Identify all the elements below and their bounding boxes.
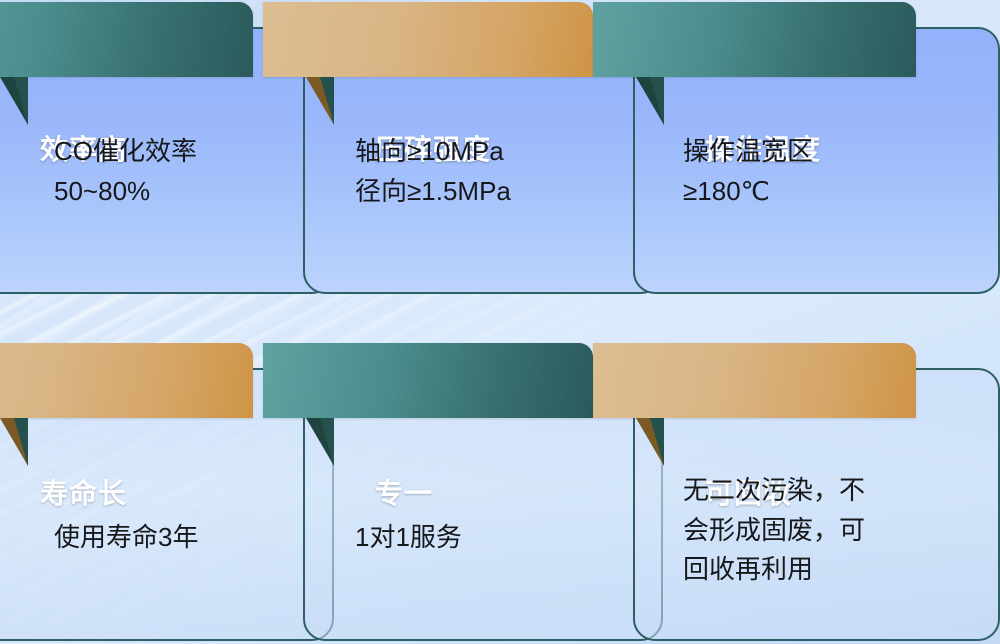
card-banner (263, 343, 593, 418)
banner-fold-icon (306, 418, 334, 466)
card-body-text: 轴向≥10MPa 径向≥1.5MPa (355, 132, 663, 211)
card-banner (593, 2, 916, 77)
card-body-text: 使用寿命3年 (54, 518, 334, 558)
card-title: 寿命长 (40, 472, 127, 512)
feature-card-recyclable[interactable]: 可回收 无二次污染，不 会形成固废，可 回收再利用 (633, 343, 1000, 641)
card-banner (263, 2, 593, 77)
banner-fold-icon (0, 418, 28, 466)
banner-fold-icon (0, 77, 28, 125)
banner-fold-icon (636, 418, 664, 466)
card-body-text: 1对1服务 (355, 518, 663, 558)
infographic-canvas: 效率高 CO催化效率 50~80% 压碎强度 轴向≥10MPa 径向≥1.5MP… (0, 0, 1000, 644)
feature-card-grid: 效率高 CO催化效率 50~80% 压碎强度 轴向≥10MPa 径向≥1.5MP… (0, 0, 1000, 644)
card-banner (0, 343, 253, 418)
banner-fold-icon (636, 77, 664, 125)
card-body-text: 无二次污染，不 会形成固废，可 回收再利用 (683, 471, 1000, 590)
feature-card-operating-temperature[interactable]: 操作温度 操作温宽区 ≥180℃ (633, 2, 1000, 294)
card-title: 专一 (375, 472, 433, 512)
banner-fold-icon (306, 77, 334, 125)
card-banner (0, 2, 253, 77)
card-body-text: 操作温宽区 ≥180℃ (683, 132, 1000, 211)
card-body-text: CO催化效率 50~80% (54, 132, 334, 211)
card-banner (593, 343, 916, 418)
